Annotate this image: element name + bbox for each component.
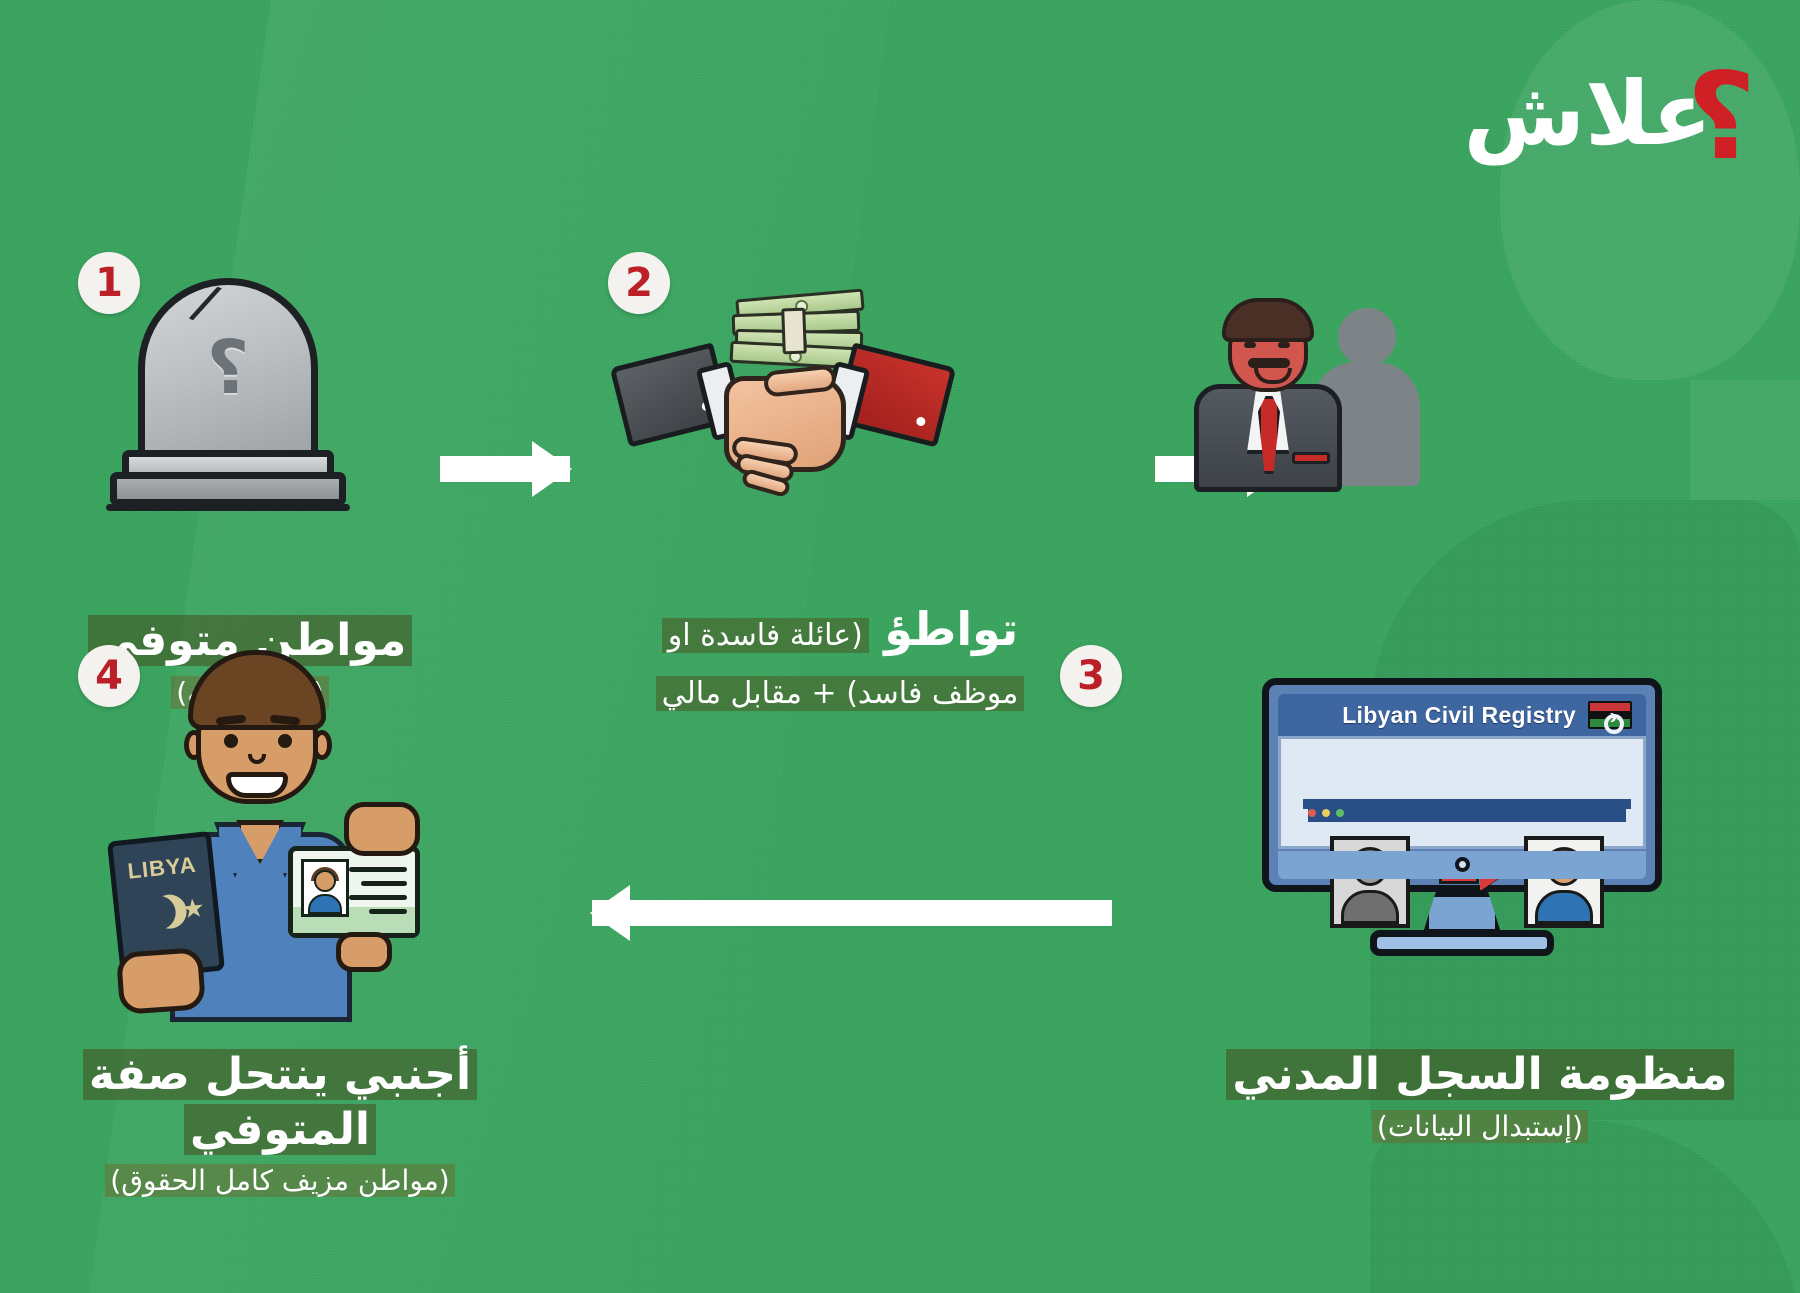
- step-4-label: أجنبي ينتحل صفة المتوفي (مواطن مزيف كامل…: [10, 1048, 550, 1199]
- tombstone-icon: ؟: [110, 278, 346, 510]
- gray-deceased-portrait: [1330, 836, 1410, 928]
- arrow-step1-to-step2: [440, 456, 570, 482]
- step-2-label: تواطؤ (عائلة فاسدة او موظف فاسد) + مقابل…: [630, 600, 1050, 717]
- infographic-canvas: علاش ؟ 1 ؟ مواطن متوفي (لم يُبلغ عنه) 2: [0, 0, 1800, 1293]
- civil-registry-monitor-icon: ★ Libyan Civil Registry: [1262, 678, 1662, 958]
- passport-country-label: LIBYA: [114, 850, 210, 886]
- color-impostor-portrait: [1524, 836, 1604, 928]
- step-3-title: منظومة السجل المدني: [1226, 1049, 1733, 1100]
- corrupt-official-icon: [1180, 292, 1420, 492]
- money-stack-icon: [730, 292, 870, 364]
- step-3-label: منظومة السجل المدني (إستبدال البيانات): [1210, 1048, 1750, 1145]
- alash-logo[interactable]: علاش ؟: [1568, 44, 1758, 174]
- step-number-badge-3: 3: [1060, 645, 1122, 707]
- power-icon: [1604, 714, 1624, 734]
- step-2-detail-line1: (عائلة فاسدة او: [662, 618, 869, 653]
- handshake-money-icon: [618, 292, 948, 512]
- step-4-title: أجنبي ينتحل صفة المتوفي: [83, 1049, 477, 1155]
- arrow-step3-to-step4: [592, 900, 1112, 926]
- step-2-title: تواطؤ: [884, 602, 1018, 656]
- tombstone-question-glyph: ؟: [145, 325, 311, 411]
- logo-word: علاش: [1464, 70, 1712, 158]
- registry-app-title: Libyan Civil Registry: [1342, 702, 1576, 729]
- impostor-man-icon: LIBYA ★: [96, 650, 426, 1020]
- step-3-subtitle: (إستبدال البيانات): [1372, 1110, 1588, 1143]
- id-card-icon: [288, 846, 420, 938]
- step-4-subtitle: (مواطن مزيف كامل الحقوق): [105, 1164, 454, 1197]
- step-2-detail-line2: موظف فاسد) + مقابل مالي: [656, 676, 1025, 711]
- logo-question-mark: ؟: [1686, 58, 1756, 178]
